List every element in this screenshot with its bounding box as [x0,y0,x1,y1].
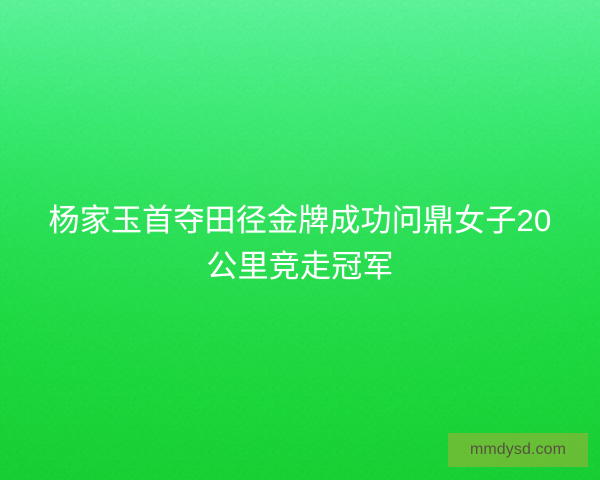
title-card: 杨家玉首夺田径金牌成功问鼎女子20公里竞走冠军 mmdysd.com [0,0,600,480]
watermark-label: mmdysd.com [470,442,566,458]
page-title: 杨家玉首夺田径金牌成功问鼎女子20公里竞走冠军 [36,198,564,290]
watermark-badge: mmdysd.com [448,433,588,467]
